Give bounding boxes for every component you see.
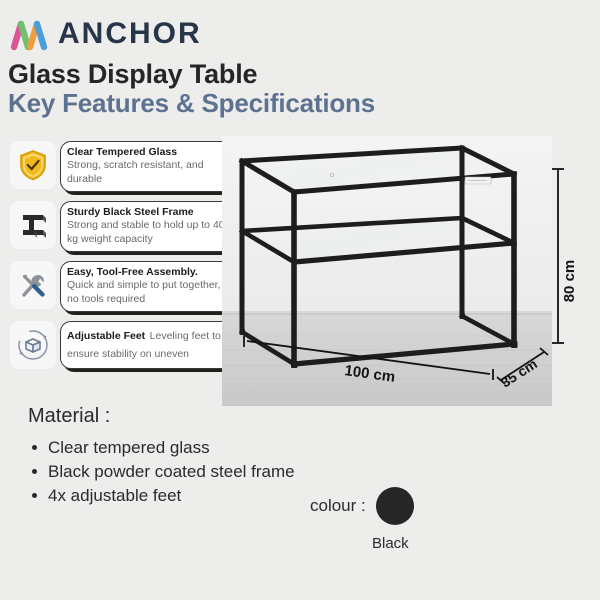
- material-section: Material : Clear tempered glass Black po…: [28, 405, 298, 509]
- feature-heading: Clear Tempered Glass: [67, 146, 233, 159]
- steel-i-beam-icon: [10, 201, 56, 249]
- anchor-m-logo-icon: [8, 16, 52, 52]
- feature-callout: Sturdy Black Steel Frame Strong and stab…: [60, 201, 242, 252]
- feature-item-steel-frame: Sturdy Black Steel Frame Strong and stab…: [10, 201, 242, 253]
- colour-row: colour :: [310, 487, 510, 525]
- colour-swatch: [376, 487, 414, 525]
- page-subtitle: Key Features & Specifications: [8, 90, 375, 117]
- feature-heading: Adjustable Feet: [67, 330, 145, 342]
- box-rotate-icon: [10, 321, 56, 369]
- feature-item-tool-free-assembly: Easy, Tool-Free Assembly. Quick and simp…: [10, 261, 242, 313]
- list-item: Clear tempered glass: [28, 437, 298, 458]
- feature-list: Clear Tempered Glass Strong, scratch res…: [10, 141, 242, 381]
- feature-body: Strong and stable to hold up to 40 kg we…: [67, 219, 233, 246]
- brand-header: ANCHOR: [8, 16, 202, 52]
- product-image: 100 cm 35 cm 80 cm: [222, 136, 600, 446]
- brand-wordmark: ANCHOR: [58, 19, 202, 49]
- page-title: Glass Display Table: [8, 60, 257, 88]
- material-list: Clear tempered glass Black powder coated…: [28, 437, 298, 506]
- feature-callout: Clear Tempered Glass Strong, scratch res…: [60, 141, 242, 192]
- feature-callout: Adjustable Feet Leveling feet to ensure …: [60, 321, 242, 369]
- product-infographic: ANCHOR Glass Display Table Key Features …: [0, 0, 600, 600]
- material-title: Material :: [28, 405, 298, 428]
- feature-body: Strong, scratch resistant, and durable: [67, 159, 233, 186]
- shield-check-icon: [10, 141, 56, 189]
- colour-name: Black: [372, 535, 510, 552]
- feature-heading: Sturdy Black Steel Frame: [67, 206, 233, 219]
- feature-item-adjustable-feet: Adjustable Feet Leveling feet to ensure …: [10, 321, 242, 373]
- feature-item-tempered-glass: Clear Tempered Glass Strong, scratch res…: [10, 141, 242, 193]
- feature-heading: Easy, Tool-Free Assembly.: [67, 266, 233, 279]
- colour-label: colour :: [310, 496, 366, 516]
- dimension-height-label: 80 cm: [561, 260, 578, 303]
- wrench-screwdriver-icon: [10, 261, 56, 309]
- colour-section: colour : Black: [310, 487, 510, 552]
- list-item: Black powder coated steel frame: [28, 461, 298, 482]
- list-item: 4x adjustable feet: [28, 485, 298, 506]
- feature-body: Quick and simple to put together, no too…: [67, 279, 233, 306]
- feature-callout: Easy, Tool-Free Assembly. Quick and simp…: [60, 261, 242, 312]
